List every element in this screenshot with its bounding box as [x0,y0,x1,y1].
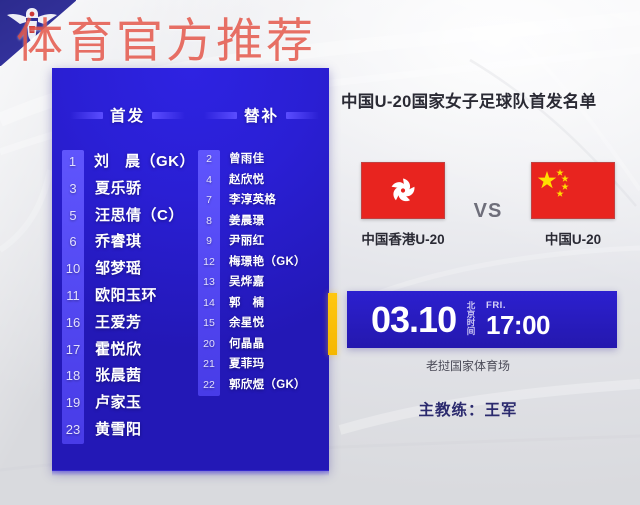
match-date: 03.10 [371,302,456,338]
player-row: 13吴烨嘉 [196,273,326,294]
player-name: 夏乐骄 [86,177,142,198]
player-name: 刘 晨（GK） [85,150,195,171]
venue-name: 老挝国家体育场 [426,357,510,374]
player-number: 17 [60,342,86,357]
hong-kong-flag [361,162,445,219]
player-row: 14郭 楠 [196,294,326,315]
player-name: 曾雨佳 [222,150,264,166]
player-number: 23 [60,422,86,437]
player-row: 20何晶晶 [196,335,326,356]
player-row: 5汪思倩（C） [60,204,195,231]
player-number: 7 [196,194,222,206]
player-row: 7李淳英格 [196,191,326,212]
coach-row: 主教练：王军 [0,398,640,420]
player-name: 姜晨璟 [222,212,264,228]
player-row: 22郭欣煜（GK） [196,376,326,397]
player-number: 13 [196,276,222,288]
player-name: 王爱芳 [86,311,142,332]
player-number: 5 [60,208,86,223]
player-name: 黄雪阳 [86,418,142,439]
player-row: 3夏乐骄 [60,177,195,204]
vs-label: VS [474,200,503,223]
player-name: 赵欣悦 [222,171,264,187]
player-row: 4赵欣悦 [196,171,326,192]
player-row: 12梅璟艳（GK） [196,253,326,274]
player-number: 2 [196,153,222,165]
player-name: 霍悦欣 [86,338,142,359]
home-team-name: 中国香港U-20 [348,228,458,248]
header-bar-left [70,112,103,119]
player-row: 1刘 晨（GK） [60,150,195,177]
substitutes-header-label: 替补 [244,104,279,126]
player-row: 10邹梦瑶 [60,257,195,284]
player-number: 16 [60,315,86,330]
player-row: 2曾雨佳 [196,150,326,171]
player-number: 14 [196,297,222,309]
substitutes-column-header: 替补 [204,104,319,126]
player-name: 邹梦瑶 [86,257,142,278]
player-name: 乔睿琪 [86,230,142,251]
player-number: 1 [60,154,85,169]
player-name: 余星悦 [222,314,264,330]
eagle-emblem-icon [6,2,58,44]
player-number: 10 [60,261,86,276]
player-row: 11欧阳玉环 [60,284,195,311]
header-bar-right [152,112,185,119]
player-row: 15余星悦 [196,314,326,335]
player-number: 15 [196,317,222,329]
venue-row: 老挝国家体育场 [0,357,640,374]
starters-header-label: 首发 [110,104,145,126]
kickoff-time: 17:00 [486,312,550,338]
page-title: 中国U-20国家女子足球队首发名单 [341,88,596,112]
player-name: 尹丽红 [222,232,264,248]
header-bar-left [204,112,237,119]
player-row: 6乔睿琪 [60,230,195,257]
match-datetime-panel: 03.10 北京时间 FRI. 17:00 [347,291,617,348]
player-name: 吴烨嘉 [222,273,264,289]
weekday-label: FRI. [486,301,550,311]
player-row: 23黄雪阳 [60,418,195,445]
coach-name: 主教练：王军 [418,398,517,420]
header-bar-right [286,112,319,119]
player-number: 8 [196,215,222,227]
player-row: 16王爱芳 [60,311,195,338]
player-name: 郭 楠 [222,294,264,310]
player-number: 4 [196,174,222,186]
kickoff-block: FRI. 17:00 [486,301,550,339]
player-number: 3 [60,181,86,196]
player-number: 12 [196,256,222,268]
player-name: 郭欣煜（GK） [222,376,306,392]
teams-row: 中国香港U-20 VS 中国U-20 [348,162,628,248]
corner-logo-wedge [0,0,76,66]
player-name: 梅璟艳（GK） [222,253,306,269]
away-team-name: 中国U-20 [518,228,628,248]
player-name: 何晶晶 [222,335,264,351]
player-name: 欧阳玉环 [86,284,157,305]
player-number: 9 [196,235,222,247]
player-number: 11 [60,288,86,303]
player-number: 6 [60,234,86,249]
home-team: 中国香港U-20 [348,162,458,248]
yellow-accent-bar [328,293,337,355]
player-name: 汪思倩（C） [86,204,184,225]
player-number: 22 [196,379,222,391]
bauhinia-icon [362,163,444,218]
player-row: 8姜晨璟 [196,212,326,233]
player-row: 9尹丽红 [196,232,326,253]
timezone-label: 北京时间 [466,301,475,339]
away-team: 中国U-20 [518,162,628,248]
player-number: 20 [196,338,222,350]
china-flag [531,162,615,219]
china-stars-icon [532,163,614,218]
player-name: 李淳英格 [222,191,276,207]
starters-column-header: 首发 [70,104,185,126]
